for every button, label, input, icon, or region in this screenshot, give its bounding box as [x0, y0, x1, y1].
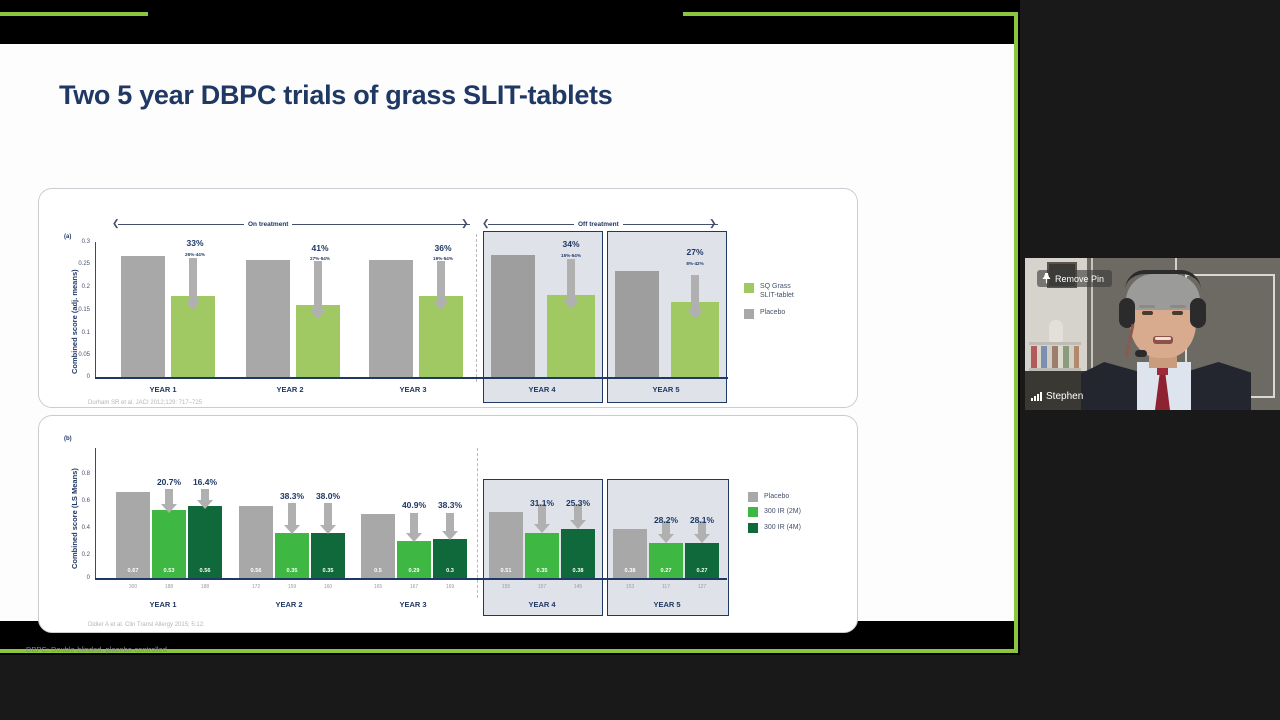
reduction-arrow-b-y2-2m: [284, 503, 300, 534]
value-b-y3-placebo: 0.5: [361, 568, 395, 574]
reduction-arrow-b-y4-2m: [534, 504, 550, 533]
value-b-y2-placebo: 0.56: [239, 568, 273, 574]
reduction-arrow-a-y2: [310, 261, 326, 319]
value-b-y2-2m: 0.35: [275, 568, 309, 574]
pct-ci-a-y3: 19%-54%: [411, 256, 475, 261]
y-tick-a-1: 0.25: [66, 261, 90, 267]
y-tick-b-4: 0: [66, 575, 90, 581]
pct-a-y1: 33%: [163, 238, 227, 248]
n-b-y1-4m: 188: [188, 584, 222, 590]
n-b-y4-placebo: 155: [489, 584, 523, 590]
value-b-y2-4m: 0.35: [311, 568, 345, 574]
n-b-y5-placebo: 153: [613, 584, 647, 590]
value-b-y3-2m: 0.29: [397, 568, 431, 574]
headphone-band-icon: [1125, 270, 1201, 290]
value-b-y4-2m: 0.35: [525, 568, 559, 574]
pct-a-y3: 36%: [411, 243, 475, 253]
n-b-y2-placebo: 172: [239, 584, 273, 590]
x-label-a-year4: YEAR 4: [510, 385, 574, 394]
reduction-arrow-a-y3: [433, 261, 449, 310]
y-tick-a-3: 0.15: [66, 307, 90, 313]
n-b-y3-placebo: 165: [361, 584, 395, 590]
x-label-a-year5: YEAR 5: [634, 385, 698, 394]
participant-name-label: Stephen: [1046, 391, 1083, 402]
legend-label-placebo-a: Placebo: [760, 308, 830, 317]
reduction-arrow-b-y1-2m: [161, 489, 177, 513]
video-person-brow-right: [1170, 305, 1186, 308]
remove-pin-button[interactable]: Remove Pin: [1037, 270, 1112, 287]
bar-a-y5-placebo: [615, 271, 659, 377]
legend-swatch-placebo-a: [744, 309, 754, 319]
on-treatment-line: [118, 224, 470, 225]
reduction-arrow-a-y4: [563, 259, 579, 309]
legend-label-slit: SQ Grass SLIT-tablet: [760, 282, 830, 301]
signal-strength-icon: [1031, 392, 1042, 401]
on-treatment-label: On treatment: [244, 221, 292, 228]
reduction-arrow-b-y3-2m: [406, 513, 422, 542]
y-tick-a-5: 0.05: [66, 352, 90, 358]
reduction-arrow-b-y2-4m: [320, 503, 336, 534]
pct-a-y4: 34%: [539, 239, 603, 249]
x-label-b-year2: YEAR 2: [257, 600, 321, 609]
reduction-arrow-b-y3-4m: [442, 513, 458, 540]
off-treatment-arrow-right: ❯: [709, 219, 717, 228]
legend-swatch-placebo-b: [748, 492, 758, 502]
reduction-arrow-b-y1-4m: [197, 489, 213, 509]
slide-footnote: DBPC: Double-blinded, placebo-controlled: [26, 645, 167, 654]
n-b-y4-4m: 145: [561, 584, 595, 590]
remove-pin-label: Remove Pin: [1055, 274, 1104, 284]
x-label-b-year3: YEAR 3: [381, 600, 445, 609]
x-label-a-year1: YEAR 1: [131, 385, 195, 394]
legend-label-4m: 300 IR (4M): [764, 523, 801, 532]
reduction-arrow-a-y1: [185, 258, 201, 310]
x-label-b-year1: YEAR 1: [131, 600, 195, 609]
citation-b: Didier A et al. Clin Transl Allergy 2015…: [88, 622, 205, 628]
value-b-y5-placebo: 0.38: [613, 568, 647, 574]
y-tick-b-2: 0.4: [66, 525, 90, 531]
y-tick-a-0: 0.3: [66, 239, 90, 245]
participant-video-tile[interactable]: Remove Pin Stephen: [1025, 258, 1280, 410]
n-b-y3-2m: 167: [397, 584, 431, 590]
on-treatment-arrow-right: ❯: [461, 219, 469, 228]
video-person-eye-left: [1142, 311, 1153, 315]
headphone-earcup-right: [1190, 298, 1206, 328]
pct-b-y4-4m: 25.3%: [546, 498, 610, 508]
video-bg-shelf-top: [1029, 342, 1081, 345]
panel-tag-b: (b): [64, 436, 72, 442]
legend-label-placebo-b: Placebo: [764, 492, 789, 501]
n-b-y2-4m: 160: [311, 584, 345, 590]
pct-a-y5: 27%: [663, 247, 727, 257]
x-label-b-year5: YEAR 5: [635, 600, 699, 609]
pin-icon: [1042, 273, 1051, 284]
meeting-screen: Two 5 year DBPC trials of grass SLIT-tab…: [0, 0, 1280, 720]
legend-swatch-4m: [748, 523, 758, 533]
n-b-y5-2m: 117: [649, 584, 683, 590]
pct-ci-a-y5: 8%-42%: [663, 261, 727, 266]
page-title: Two 5 year DBPC trials of grass SLIT-tab…: [59, 80, 612, 111]
headset-mic-icon: [1135, 350, 1147, 357]
legend-swatch-slit: [744, 283, 754, 293]
share-border-right: [1014, 12, 1018, 653]
presentation-slide: Two 5 year DBPC trials of grass SLIT-tab…: [0, 44, 1014, 621]
n-b-y2-2m: 159: [275, 584, 309, 590]
pct-ci-a-y1: 26%-44%: [163, 252, 227, 257]
value-b-y4-placebo: 0.51: [489, 568, 523, 574]
legend-swatch-2m: [748, 507, 758, 517]
video-person-teeth: [1155, 337, 1171, 340]
screen-share-region: Two 5 year DBPC trials of grass SLIT-tab…: [0, 0, 1020, 655]
pct-b-y5-4m: 28.1%: [670, 515, 734, 525]
video-person-eye-right: [1172, 311, 1183, 315]
value-b-y3-4m: 0.3: [433, 568, 467, 574]
on-treatment-arrow-left: ❮: [112, 219, 120, 228]
plot-area-a: [95, 242, 728, 377]
value-b-y1-4m: 0.56: [188, 568, 222, 574]
n-b-y1-placebo: 300: [116, 584, 150, 590]
n-b-y4-2m: 157: [525, 584, 559, 590]
value-b-y4-4m: 0.38: [561, 568, 595, 574]
bar-a-y4-placebo: [491, 255, 535, 377]
pct-b-y3-4m: 38.3%: [418, 500, 482, 510]
n-b-y3-4m: 169: [433, 584, 467, 590]
y-tick-a-2: 0.2: [66, 284, 90, 290]
bar-b-y1-placebo: [116, 492, 150, 578]
legend-label-2m: 300 IR (2M): [764, 507, 801, 516]
video-person-brow-left: [1139, 305, 1155, 308]
pct-a-y2: 41%: [288, 243, 352, 253]
y-tick-b-0: 0.8: [66, 471, 90, 477]
pct-b-y2-4m: 38.0%: [296, 491, 360, 501]
letterbox-top: [0, 16, 1014, 44]
bar-a-y1-placebo: [121, 256, 165, 377]
video-bg-bust: [1049, 320, 1063, 342]
y-tick-b-3: 0.2: [66, 552, 90, 558]
y-tick-a-4: 0.1: [66, 330, 90, 336]
reduction-arrow-a-y5: [687, 275, 703, 319]
citation-a: Durham SR et al. JACI 2012;129: 717–725: [88, 400, 202, 406]
off-treatment-arrow-left: ❮: [482, 219, 490, 228]
value-b-y1-placebo: 0.67: [116, 568, 150, 574]
pct-ci-a-y2: 27%-54%: [288, 256, 352, 261]
value-b-y5-2m: 0.27: [649, 568, 683, 574]
video-bg-books: [1031, 346, 1079, 368]
x-axis-b: [95, 578, 727, 580]
x-label-a-year2: YEAR 2: [258, 385, 322, 394]
pct-b-y1-4m: 16.4%: [173, 477, 237, 487]
pct-ci-a-y4: 15%-54%: [539, 253, 603, 258]
x-label-b-year4: YEAR 4: [510, 600, 574, 609]
value-b-y5-4m: 0.27: [685, 568, 719, 574]
x-axis-a: [95, 377, 728, 379]
n-b-y1-2m: 188: [152, 584, 186, 590]
bar-a-y3-placebo: [369, 260, 413, 377]
plot-area-b: [95, 448, 727, 578]
value-b-y1-2m: 0.53: [152, 568, 186, 574]
bar-a-y2-placebo: [246, 260, 290, 377]
x-label-a-year3: YEAR 3: [381, 385, 445, 394]
y-tick-a-6: 0: [66, 374, 90, 380]
n-b-y5-4m: 127: [685, 584, 719, 590]
participant-name-tag: Stephen: [1031, 389, 1083, 404]
off-treatment-label: Off treatment: [574, 221, 623, 228]
y-tick-b-1: 0.6: [66, 498, 90, 504]
